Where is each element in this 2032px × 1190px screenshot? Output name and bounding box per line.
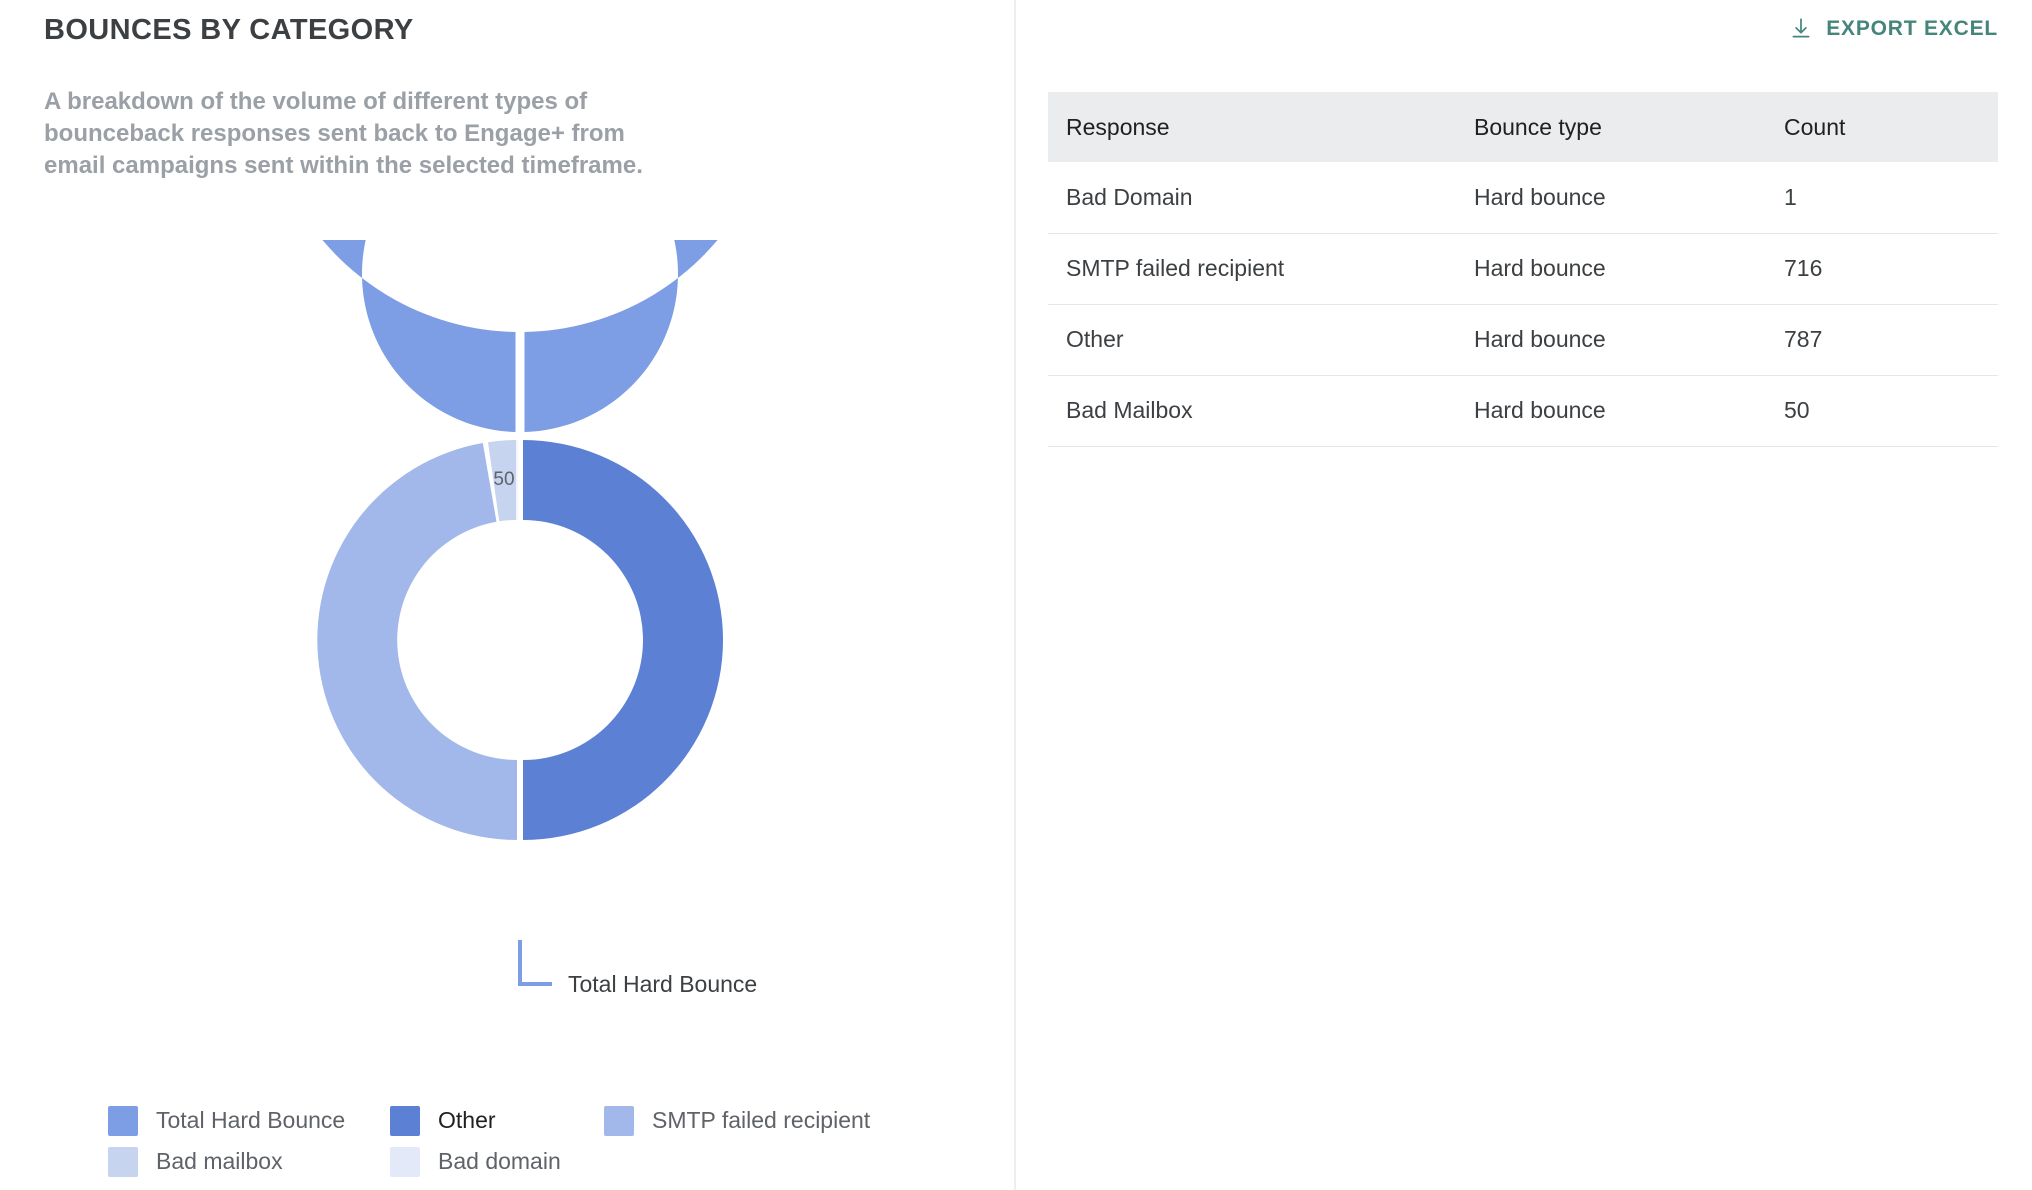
inner-ring-group (317, 440, 723, 840)
legend-swatch-smtp-failed-recipient (604, 1106, 634, 1136)
legend-item-other[interactable]: Other (390, 1106, 604, 1136)
legend-swatch-other (390, 1106, 420, 1136)
legend-item-total-hard-bounce[interactable]: Total Hard Bounce (108, 1106, 390, 1136)
legend-row-2: Bad mailbox Bad domain (108, 1141, 988, 1182)
legend-label-smtp-failed-recipient: SMTP failed recipient (652, 1107, 870, 1134)
table-panel: EXPORT EXCEL Response Bounce type Count … (1016, 0, 2032, 1190)
donut-label-smtp: 716 (272, 632, 304, 653)
panel-description: A breakdown of the volume of different t… (44, 86, 644, 182)
cell-response: Bad Domain (1048, 162, 1456, 233)
donut-chart: 787 716 50 2K Total Hard Bounce (0, 240, 1016, 1060)
column-header-response[interactable]: Response (1048, 92, 1456, 162)
cell-count: 716 (1766, 233, 1998, 304)
legend-swatch-bad-mailbox (108, 1147, 138, 1177)
page-title: BOUNCES BY CATEGORY (44, 14, 414, 47)
column-header-bounce-type[interactable]: Bounce type (1456, 92, 1766, 162)
legend-item-smtp-failed-recipient[interactable]: SMTP failed recipient (604, 1106, 904, 1136)
legend-label-total-hard-bounce: Total Hard Bounce (156, 1107, 345, 1134)
cell-count: 787 (1766, 304, 1998, 375)
legend-label-bad-mailbox: Bad mailbox (156, 1148, 283, 1175)
donut-segment-bad-domain[interactable] (517, 440, 518, 520)
donut-chart-svg: 787 716 50 2K Total Hard Bounce (0, 240, 1016, 1060)
table-row[interactable]: Other Hard bounce 787 (1048, 304, 1998, 375)
chart-legend: Total Hard Bounce Other SMTP failed reci… (108, 1100, 988, 1182)
table-body: Bad Domain Hard bounce 1 SMTP failed rec… (1048, 162, 1998, 446)
cell-count: 1 (1766, 162, 1998, 233)
cell-response: SMTP failed recipient (1048, 233, 1456, 304)
export-excel-label: EXPORT EXCEL (1826, 17, 1998, 41)
donut-segment-total-hard-bounce[interactable] (262, 240, 778, 432)
legend-swatch-total-hard-bounce (108, 1106, 138, 1136)
table-row[interactable]: SMTP failed recipient Hard bounce 716 (1048, 233, 1998, 304)
cell-bounce-type: Hard bounce (1456, 375, 1766, 446)
column-header-count[interactable]: Count (1766, 92, 1998, 162)
export-excel-button[interactable]: EXPORT EXCEL (1788, 16, 1998, 42)
donut-label-other: 787 (596, 630, 628, 651)
bounces-by-category-widget: BOUNCES BY CATEGORY A breakdown of the v… (0, 0, 2032, 1190)
cell-bounce-type: Hard bounce (1456, 162, 1766, 233)
cell-response: Other (1048, 304, 1456, 375)
download-icon (1788, 16, 1814, 42)
legend-swatch-bad-domain (390, 1147, 420, 1177)
table-row[interactable]: Bad Mailbox Hard bounce 50 (1048, 375, 1998, 446)
legend-row-1: Total Hard Bounce Other SMTP failed reci… (108, 1100, 988, 1141)
legend-label-other: Other (438, 1107, 496, 1134)
cell-bounce-type: Hard bounce (1456, 304, 1766, 375)
donut-label-total: 2K (508, 869, 532, 890)
chart-panel: BOUNCES BY CATEGORY A breakdown of the v… (0, 0, 1016, 1190)
donut-segment-smtp-failed-recipient[interactable] (317, 443, 517, 840)
table-header-row: Response Bounce type Count (1048, 92, 1998, 162)
bounces-table: Response Bounce type Count Bad Domain Ha… (1048, 92, 1998, 447)
leader-line (520, 940, 552, 984)
legend-label-bad-domain: Bad domain (438, 1148, 561, 1175)
table-header: Response Bounce type Count (1048, 92, 1998, 162)
leader-line-label: Total Hard Bounce (568, 971, 757, 997)
table-row[interactable]: Bad Domain Hard bounce 1 (1048, 162, 1998, 233)
cell-count: 50 (1766, 375, 1998, 446)
cell-response: Bad Mailbox (1048, 375, 1456, 446)
legend-item-bad-mailbox[interactable]: Bad mailbox (108, 1147, 390, 1177)
donut-label-bad-mailbox: 50 (493, 469, 514, 490)
legend-item-bad-domain[interactable]: Bad domain (390, 1147, 604, 1177)
cell-bounce-type: Hard bounce (1456, 233, 1766, 304)
outer-ring-group (262, 240, 778, 432)
